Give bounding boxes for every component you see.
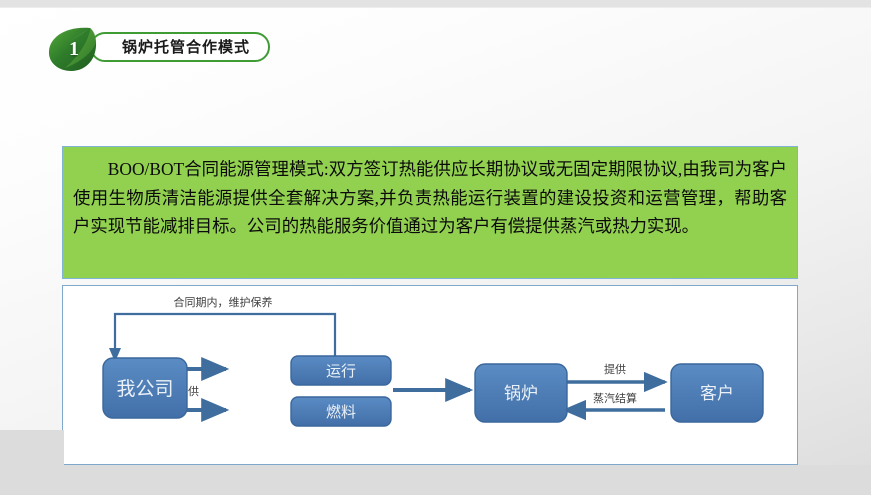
node-customer-label: 客户: [700, 384, 734, 403]
description-text: BOO/BOT合同能源管理模式:双方签订热能供应长期协议或无固定期限协议,由我司…: [73, 155, 787, 241]
badge-number: 1: [44, 24, 102, 74]
edge-label-maintenance: 合同期内，维护保养: [174, 295, 273, 309]
node-boiler[interactable]: 锅炉: [475, 364, 567, 422]
bottom-band: [0, 465, 871, 495]
top-divider-line: [0, 7, 871, 8]
node-fuel[interactable]: 燃料: [291, 397, 391, 426]
node-company-label: 我公司: [116, 378, 173, 400]
section-title-pill: 锅炉托管合作模式: [90, 32, 270, 62]
node-operation-label: 运行: [326, 363, 356, 380]
slide-canvas: 锅炉托管合作模式 1: [0, 0, 871, 495]
node-customer[interactable]: 客户: [671, 364, 763, 422]
top-divider: [0, 0, 871, 7]
process-diagram: 合同期内，维护保养 提供 提供 蒸汽结算: [62, 285, 798, 465]
edge-label-steam-settlement: 蒸汽结算: [593, 391, 637, 405]
node-operation[interactable]: 运行: [291, 356, 391, 385]
node-boiler-label: 锅炉: [504, 384, 538, 403]
edge-label-provide-right: 提供: [604, 362, 626, 376]
page-title: 锅炉托管合作模式: [122, 40, 250, 55]
edge-maintenance: [109, 314, 335, 362]
description-panel: BOO/BOT合同能源管理模式:双方签订热能供应长期协议或无固定期限协议,由我司…: [62, 146, 798, 279]
node-fuel-label: 燃料: [326, 403, 356, 421]
leaf-icon: 1: [44, 24, 102, 74]
node-company[interactable]: 我公司: [103, 358, 187, 418]
